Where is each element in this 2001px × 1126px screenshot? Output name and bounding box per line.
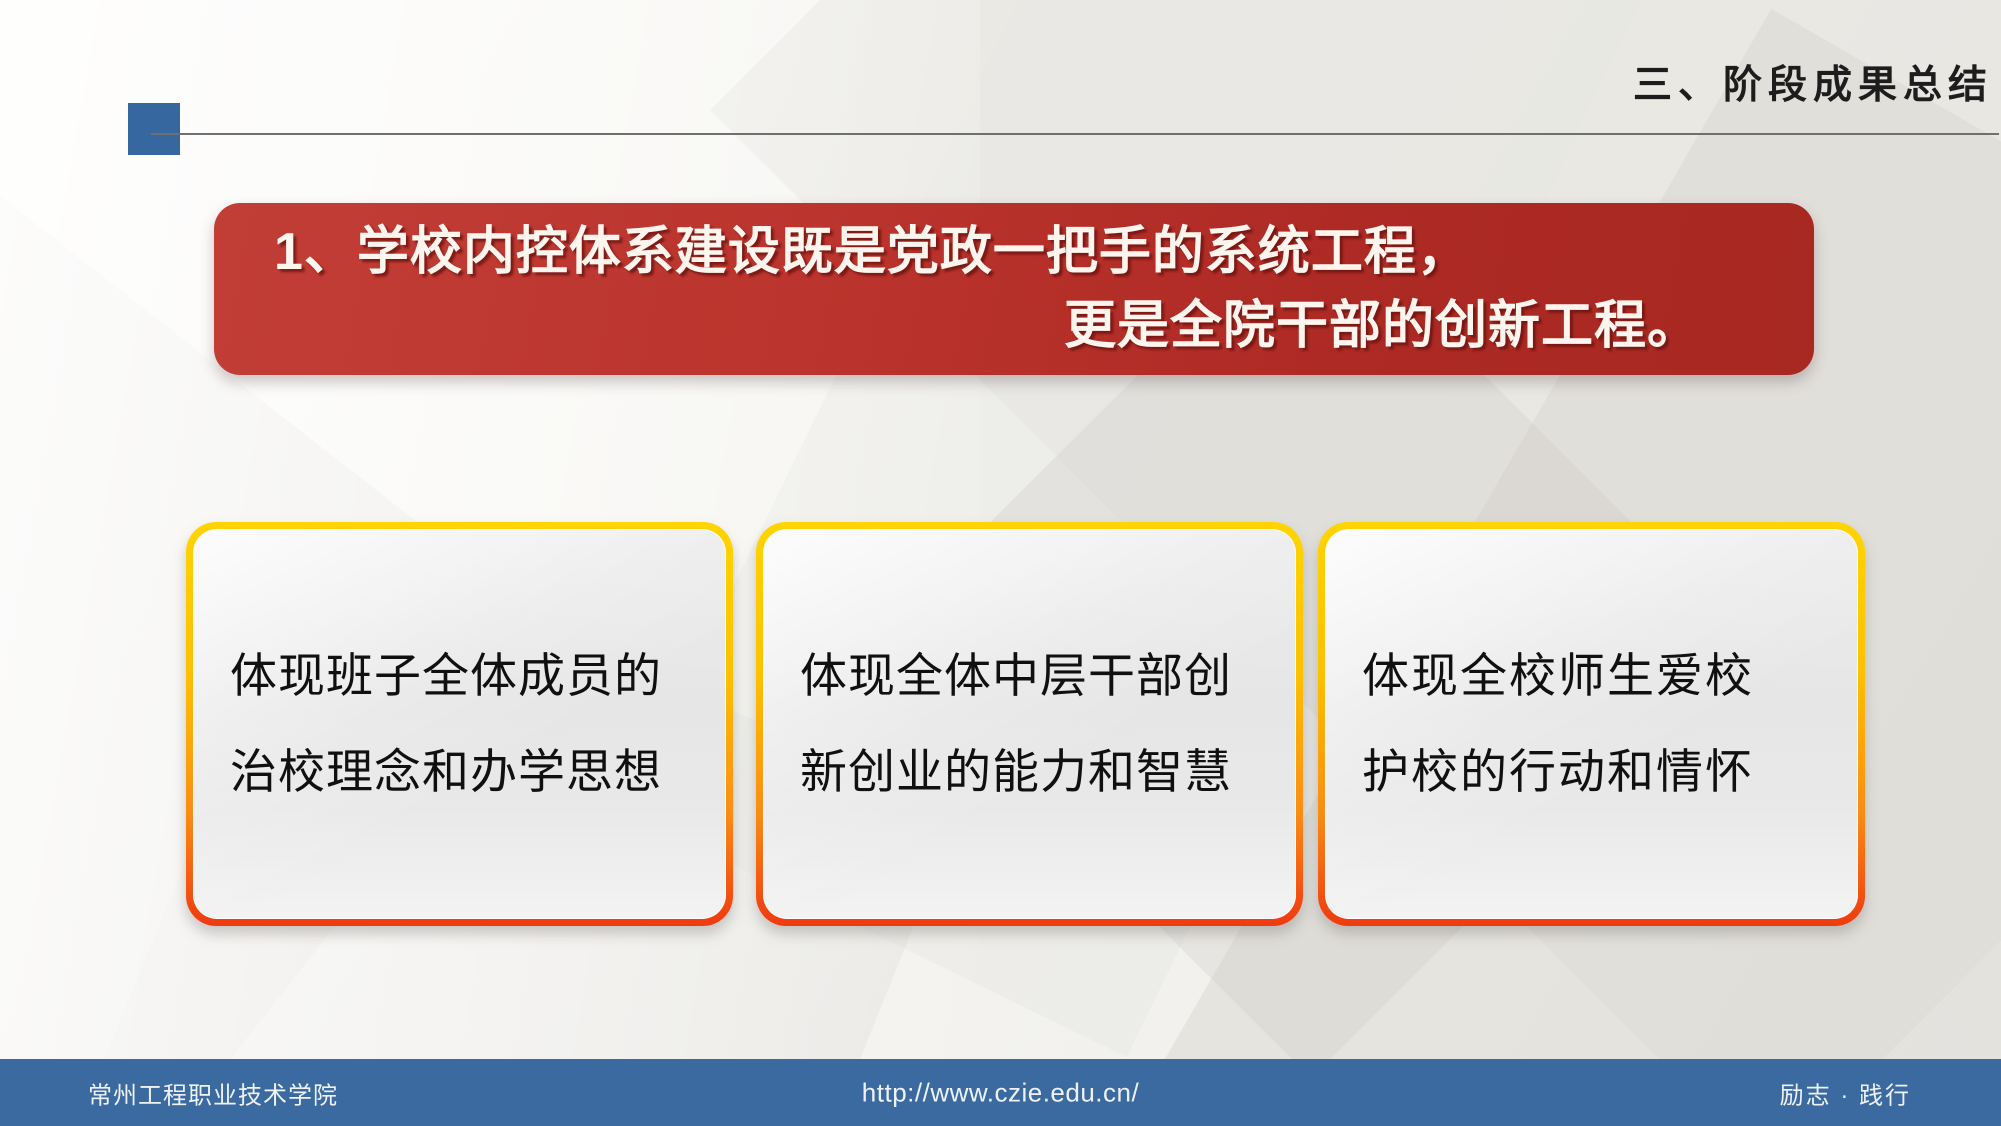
header-divider-line — [151, 133, 1999, 135]
card-1[interactable]: 体现班子全体成员的 治校理念和办学思想 — [186, 522, 733, 926]
headline-line-1: 1、学校内控体系建设既是党政一把手的系统工程， — [266, 215, 1762, 289]
section-title: 三、阶段成果总结 — [1633, 54, 1993, 110]
card-1-line-2: 治校理念和办学思想 — [230, 724, 689, 820]
footer-motto: 励志 · 践行 — [1780, 1075, 1911, 1110]
card-3-line-2: 护校的行动和情怀 — [1362, 724, 1821, 820]
footer-website-url[interactable]: http://www.czie.edu.cn/ — [862, 1077, 1139, 1108]
card-row: 体现班子全体成员的 治校理念和办学思想 体现全体中层干部创 新创业的能力和智慧 … — [0, 522, 2001, 932]
headline-banner: 1、学校内控体系建设既是党政一把手的系统工程， 更是全院干部的创新工程。 — [214, 203, 1814, 375]
card-3-face: 体现全校师生爱校 护校的行动和情怀 — [1325, 529, 1858, 919]
card-3-line-1: 体现全校师生爱校 — [1362, 628, 1821, 724]
header-marker-square — [128, 103, 180, 155]
card-2[interactable]: 体现全体中层干部创 新创业的能力和智慧 — [756, 522, 1303, 926]
card-2-face: 体现全体中层干部创 新创业的能力和智慧 — [763, 529, 1296, 919]
card-3[interactable]: 体现全校师生爱校 护校的行动和情怀 — [1318, 522, 1865, 926]
card-1-line-1: 体现班子全体成员的 — [230, 628, 689, 724]
card-2-line-1: 体现全体中层干部创 — [800, 628, 1259, 724]
headline-line-2: 更是全院干部的创新工程。 — [266, 289, 1762, 363]
card-2-line-2: 新创业的能力和智慧 — [800, 724, 1259, 820]
footer-institution-name: 常州工程职业技术学院 — [88, 1075, 338, 1110]
headline-banner-content: 1、学校内控体系建设既是党政一把手的系统工程， 更是全院干部的创新工程。 — [214, 203, 1814, 375]
card-1-face: 体现班子全体成员的 治校理念和办学思想 — [193, 529, 726, 919]
slide-canvas: 三、阶段成果总结 1、学校内控体系建设既是党政一把手的系统工程， 更是全院干部的… — [0, 0, 2001, 1126]
slide-footer: 常州工程职业技术学院 http://www.czie.edu.cn/ 励志 · … — [0, 1059, 2001, 1126]
